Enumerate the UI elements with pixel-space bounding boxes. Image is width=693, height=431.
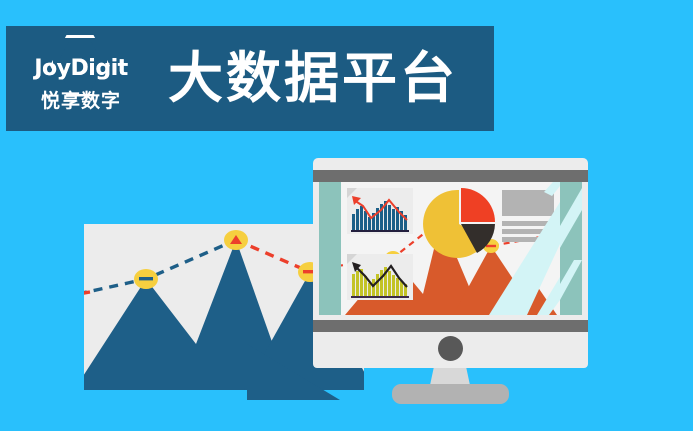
brand-logo: JoyDigit 悦享数字 [20, 33, 142, 125]
logo-subtitle: 悦享数字 [41, 92, 121, 111]
trend-line-red-tail [84, 292, 90, 294]
header-banner: JoyDigit 悦享数字 大数据平台 [6, 26, 494, 131]
logo-wordmark: JoyDigit [34, 58, 127, 80]
trend-line-blue [84, 240, 236, 294]
monitor-stand-foot [392, 384, 509, 404]
monitor-body-group [313, 158, 588, 403]
illustration-stage: JoyDigit 悦享数字 大数据平台 [0, 0, 693, 431]
marker-dash [139, 277, 153, 280]
monitor-power-indicator[interactable] [438, 336, 463, 361]
page-title: 大数据平台 [168, 51, 458, 106]
